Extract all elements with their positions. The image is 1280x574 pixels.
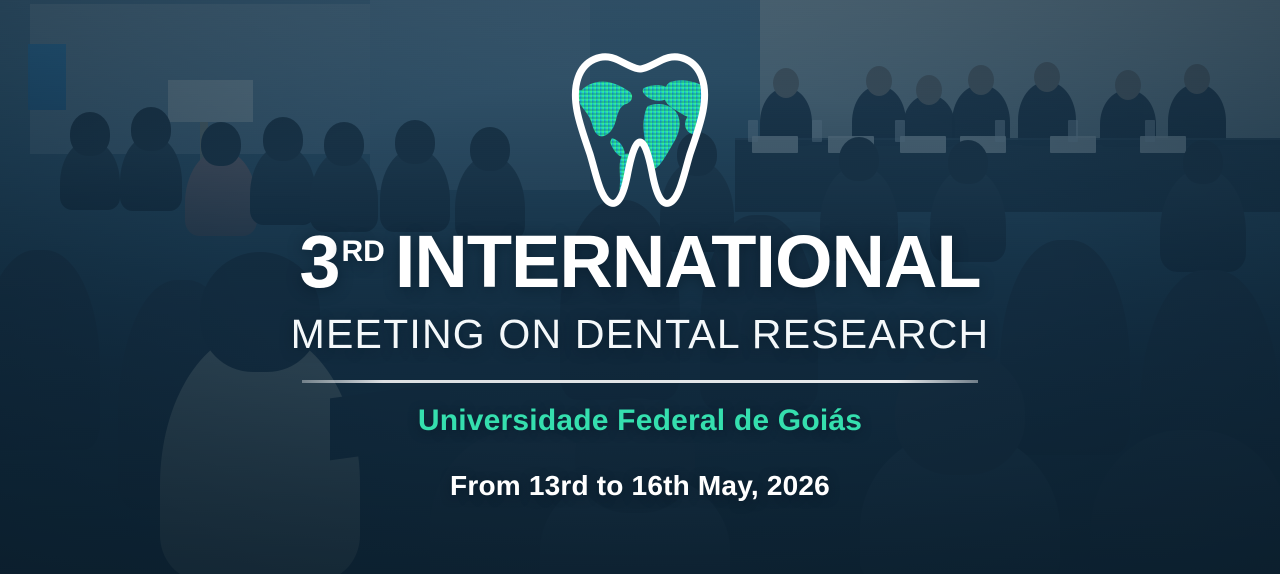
- title-ordinal-suffix: RD: [342, 235, 385, 268]
- conference-banner: 3RDINTERNATIONAL MEETING ON DENTAL RESEA…: [0, 0, 1280, 574]
- title-ordinal-number: 3: [299, 220, 339, 303]
- title-divider: [302, 380, 978, 383]
- event-dates: From 13rd to 16th May, 2026: [450, 470, 830, 502]
- page-title: 3RDINTERNATIONAL: [299, 226, 980, 297]
- title-main-word: INTERNATIONAL: [395, 220, 981, 303]
- banner-content: 3RDINTERNATIONAL MEETING ON DENTAL RESEA…: [0, 0, 1280, 574]
- page-subtitle: MEETING ON DENTAL RESEARCH: [291, 311, 990, 358]
- institution-name: Universidade Federal de Goiás: [418, 404, 862, 438]
- tooth-world-map-logo: [540, 44, 740, 216]
